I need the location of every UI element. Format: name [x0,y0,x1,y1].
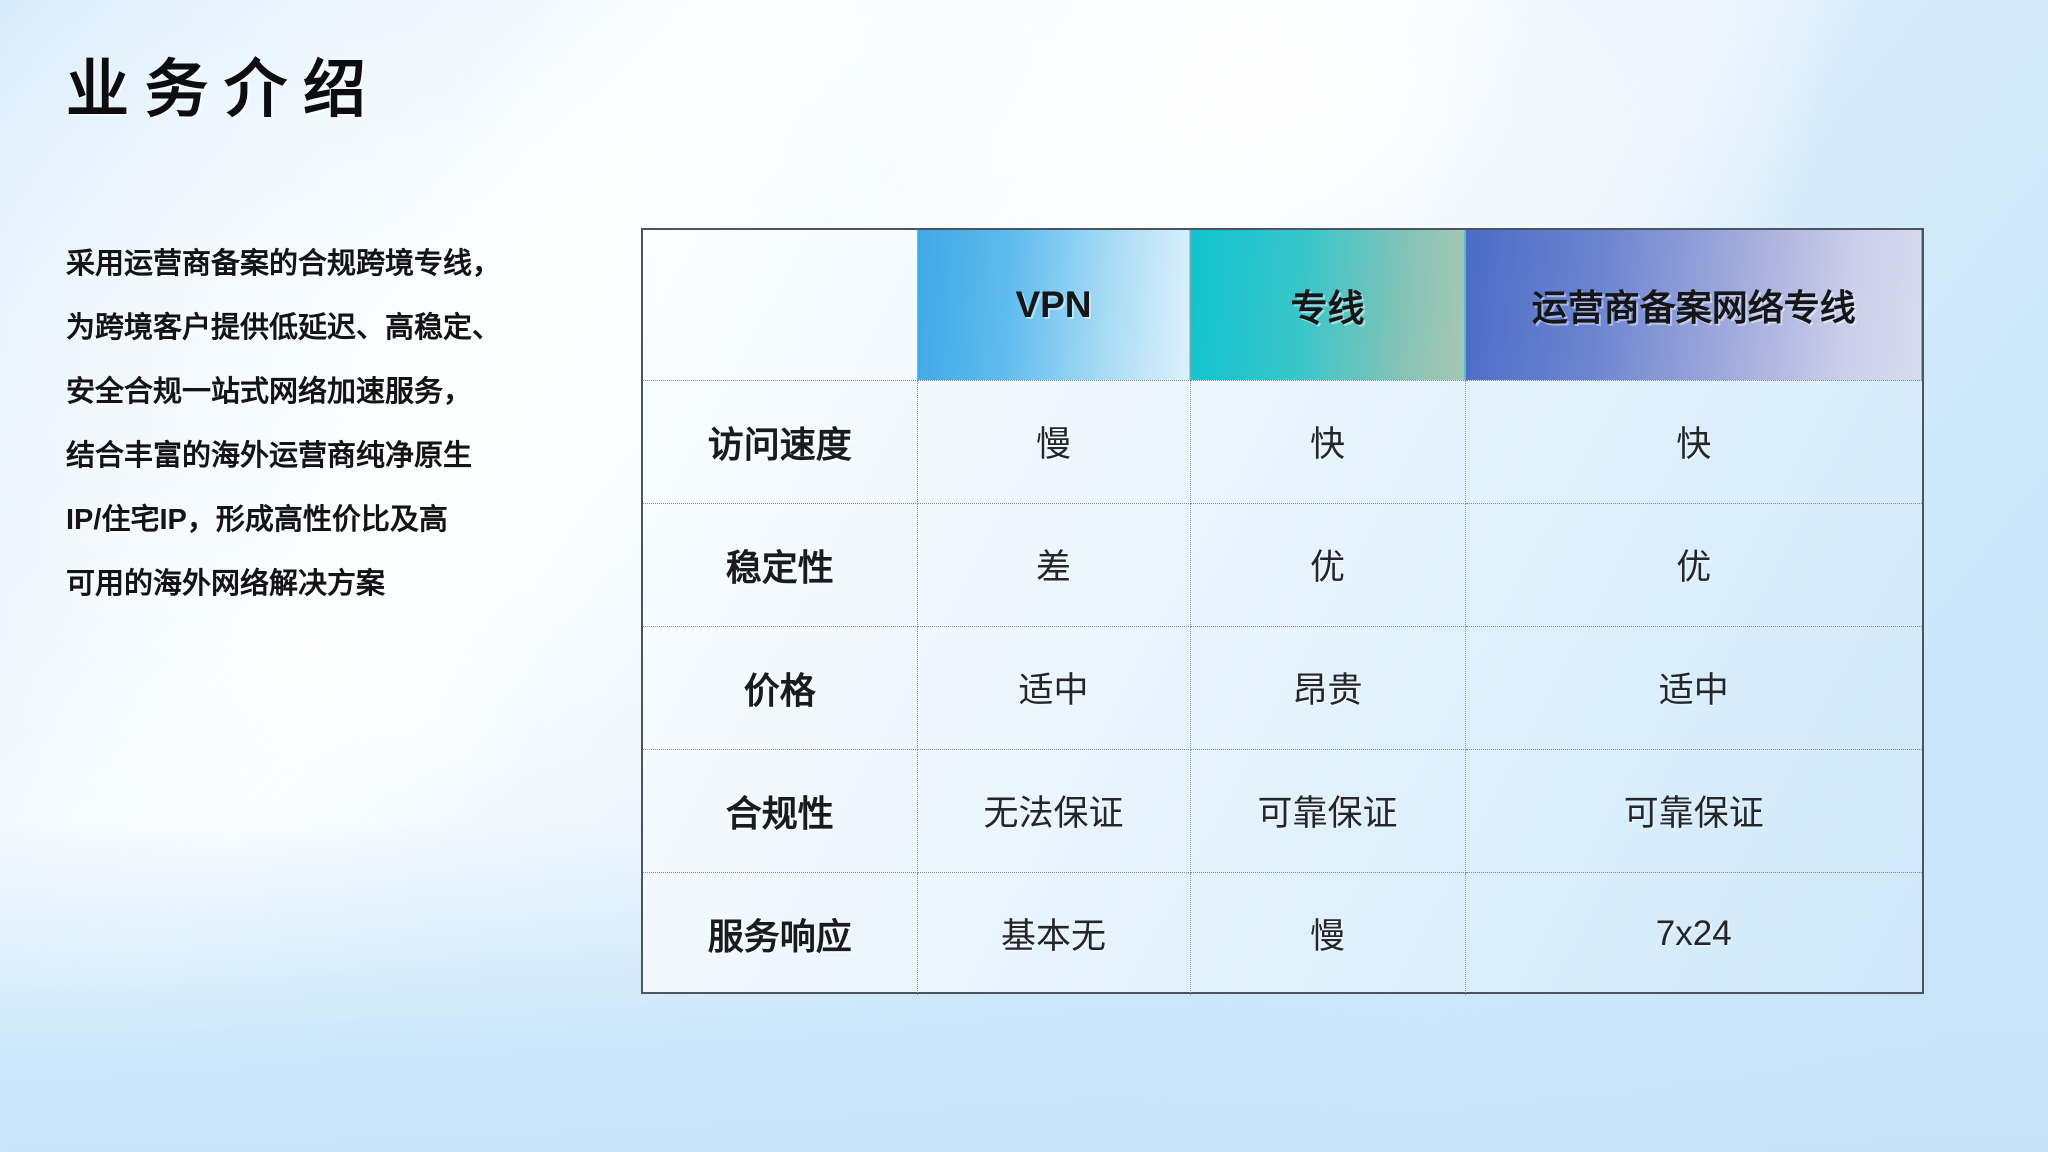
cell-service-response-vpn: 基本无 [917,872,1190,995]
table-header-blank [643,230,917,380]
intro-paragraph: 采用运营商备案的合规跨境专线， 为跨境客户提供低延迟、高稳定、 安全合规一站式网… [66,232,646,616]
table-row: 访问速度 慢 快 快 [643,380,1922,503]
row-label-access-speed: 访问速度 [643,380,917,503]
cell-stability-operator: 优 [1465,503,1922,626]
table-header-dedicated-line: 专线 [1190,230,1465,380]
intro-line: 安全合规一站式网络加速服务， [66,360,646,424]
cell-compliance-line: 可靠保证 [1190,749,1465,872]
cell-access-speed-line: 快 [1190,380,1465,503]
cell-compliance-operator: 可靠保证 [1465,749,1922,872]
page-title: 业务介绍 [66,56,382,125]
intro-line: 为跨境客户提供低延迟、高稳定、 [66,296,646,360]
cell-service-response-line: 慢 [1190,872,1465,995]
cell-compliance-vpn: 无法保证 [917,749,1190,872]
cell-access-speed-vpn: 慢 [917,380,1190,503]
slide-canvas: 业务介绍 采用运营商备案的合规跨境专线， 为跨境客户提供低延迟、高稳定、 安全合… [0,0,2048,1152]
row-label-stability: 稳定性 [643,503,917,626]
table-header-label: 运营商备案网络专线 [1532,287,1856,328]
row-label-price: 价格 [643,626,917,749]
table-row: 价格 适中 昂贵 适中 [643,626,1922,749]
cell-price-operator: 适中 [1465,626,1922,749]
cell-access-speed-operator: 快 [1465,380,1922,503]
table-header-label: VPN [1015,284,1091,325]
table-row: 服务响应 基本无 慢 7x24 [643,872,1922,995]
intro-line: 结合丰富的海外运营商纯净原生 [66,424,646,488]
table-header-vpn: VPN [917,230,1190,380]
intro-line: IP/住宅IP，形成高性价比及高 [66,488,646,552]
row-label-service-response: 服务响应 [643,872,917,995]
cell-stability-vpn: 差 [917,503,1190,626]
table-row: 稳定性 差 优 优 [643,503,1922,626]
comparison-table: VPN 专线 运营商备案网络专线 访问速度 慢 快 快 [641,228,1924,994]
intro-line: 可用的海外网络解决方案 [66,552,646,616]
cell-stability-line: 优 [1190,503,1465,626]
cell-service-response-operator: 7x24 [1465,872,1922,995]
row-label-compliance: 合规性 [643,749,917,872]
table-row: 合规性 无法保证 可靠保证 可靠保证 [643,749,1922,872]
table-header-row: VPN 专线 运营商备案网络专线 [643,230,1922,380]
cell-price-vpn: 适中 [917,626,1190,749]
intro-line: 采用运营商备案的合规跨境专线， [66,232,646,296]
cell-price-line: 昂贵 [1190,626,1465,749]
table-header-label: 专线 [1291,288,1365,329]
table-header-operator-filed-line: 运营商备案网络专线 [1465,230,1922,380]
